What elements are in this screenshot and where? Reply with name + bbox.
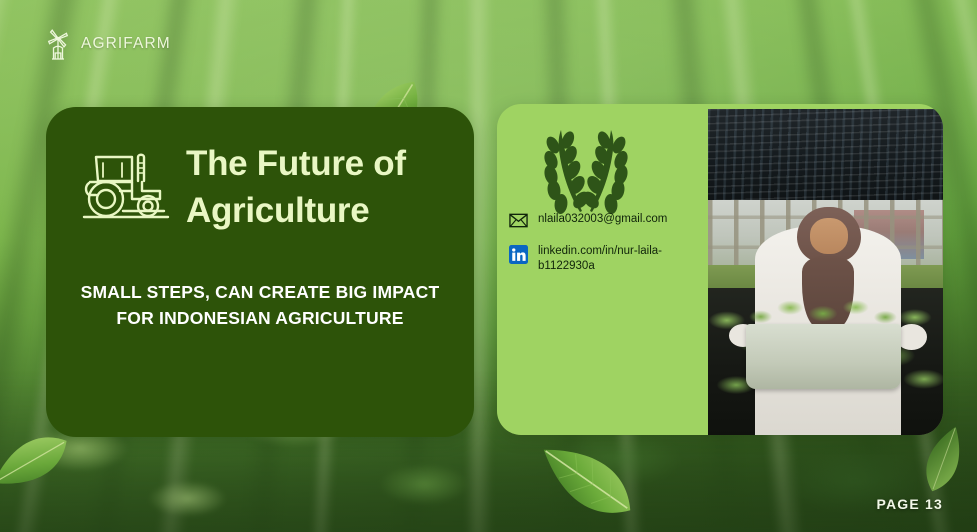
profile-photo — [708, 109, 943, 435]
contact-card: nlaila032003@gmail.com linkedin.com/in/n… — [497, 104, 943, 435]
slide-canvas: AGRIFARM — [0, 0, 977, 532]
contact-list: nlaila032003@gmail.com linkedin.com/in/n… — [509, 212, 709, 285]
tractor-icon — [76, 151, 172, 232]
laurel-wreath-icon — [522, 124, 650, 221]
linkedin-value: linkedin.com/in/nur-laila-b1122930a — [538, 244, 709, 273]
brand-logo[interactable]: AGRIFARM — [44, 28, 171, 60]
envelope-icon — [509, 213, 528, 232]
contact-linkedin[interactable]: linkedin.com/in/nur-laila-b1122930a — [509, 244, 709, 273]
email-value: nlaila032003@gmail.com — [538, 212, 667, 227]
linkedin-icon — [509, 245, 528, 264]
title-card: The Future of Agriculture SMALL STEPS, C… — [46, 107, 474, 437]
page-subtitle: SMALL STEPS, CAN CREATE BIG IMPACT FOR I… — [74, 279, 446, 332]
page-number: PAGE 13 — [877, 496, 944, 512]
windmill-icon — [44, 28, 72, 60]
page-title: The Future of Agriculture — [186, 141, 436, 234]
brand-name: AGRIFARM — [81, 35, 171, 53]
contact-email[interactable]: nlaila032003@gmail.com — [509, 212, 709, 232]
